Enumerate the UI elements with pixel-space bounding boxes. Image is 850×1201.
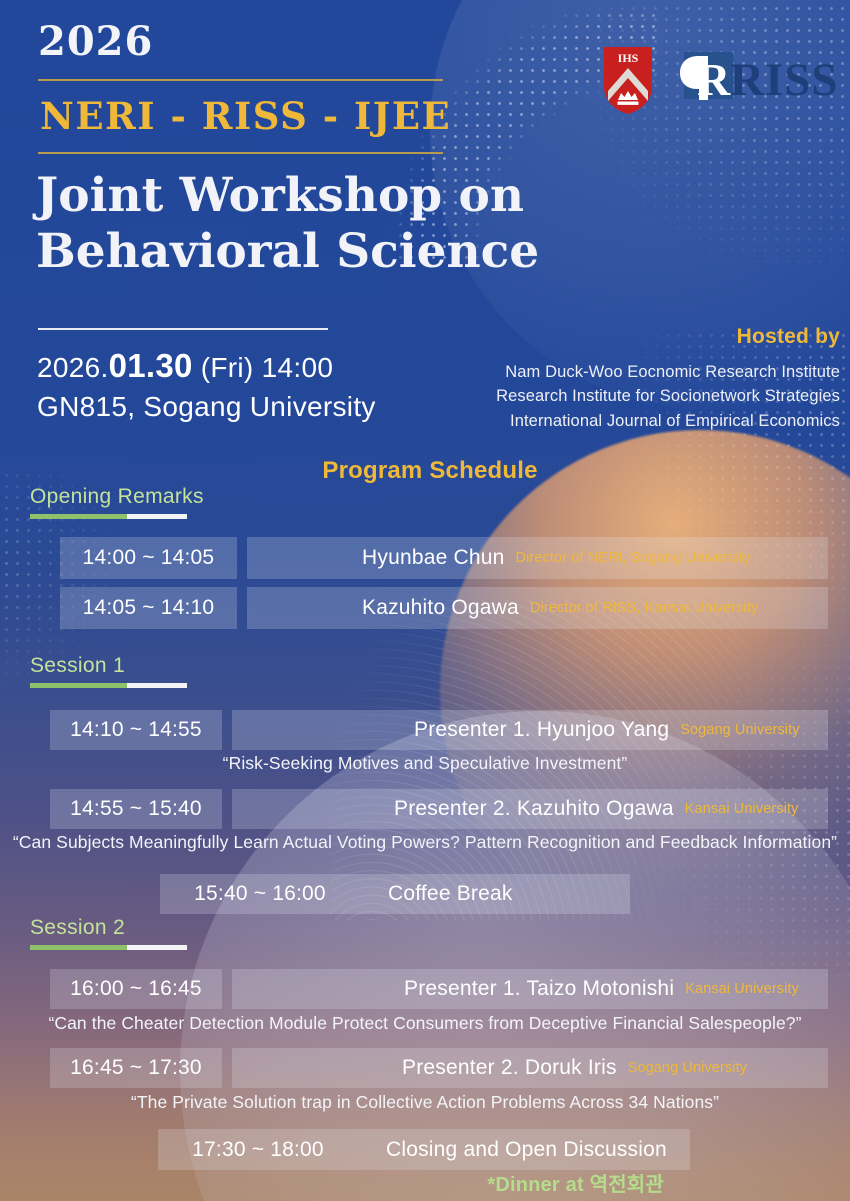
poster-root: 2026 NERI - RISS - IJEE Joint Workshop o…: [0, 0, 850, 1201]
row-time: 16:00 ~ 16:45: [50, 969, 222, 1009]
row-label: Closing and Open Discussion: [386, 1138, 667, 1162]
row-paper-title: “Can the Cheater Detection Module Protec…: [0, 1013, 850, 1034]
row-time: 14:00 ~ 14:05: [60, 537, 237, 579]
page-title-line2: Behavioral Science: [36, 224, 539, 280]
row-affiliation: Kansai University: [685, 801, 799, 817]
row-body: Presenter 2. Doruk Iris Sogang Universit…: [232, 1048, 828, 1088]
row-speaker-name: Presenter 2. Doruk Iris: [402, 1056, 617, 1080]
divider-date: [38, 328, 328, 330]
section-opening-remarks: Opening Remarks: [30, 486, 204, 519]
row-time: 17:30 ~ 18:00: [158, 1138, 358, 1162]
riss-r-glyph: R: [697, 54, 731, 105]
section-heading: Opening Remarks: [30, 486, 204, 508]
row-paper-title: “Can Subjects Meaningfully Learn Actual …: [0, 832, 850, 853]
halftone-dots-top-right: [540, 0, 850, 270]
section-underline: [30, 514, 187, 519]
row-affiliation: Sogang University: [628, 1060, 747, 1076]
host-institute: Nam Duck-Woo Eocnomic Research Institute: [496, 360, 840, 384]
table-row: 16:45 ~ 17:30 Presenter 2. Doruk Iris So…: [50, 1048, 828, 1088]
coffee-break-row: 15:40 ~ 16:00 Coffee Break: [160, 874, 630, 914]
section-heading: Session 1: [30, 655, 187, 677]
hosted-by-label: Hosted by: [737, 325, 840, 349]
row-time: 14:05 ~ 14:10: [60, 587, 237, 629]
row-affiliation: Sogang University: [680, 722, 799, 738]
row-paper-title: “The Private Solution trap in Collective…: [0, 1092, 850, 1113]
row-speaker-name: Presenter 2. Kazuhito Ogawa: [394, 797, 674, 821]
section-heading: Session 2: [30, 917, 187, 939]
table-row: 14:55 ~ 15:40 Presenter 2. Kazuhito Ogaw…: [50, 789, 828, 829]
event-venue: GN815, Sogang University: [37, 391, 376, 423]
row-paper-title: “Risk-Seeking Motives and Speculative In…: [0, 753, 850, 774]
section-session-2: Session 2: [30, 917, 187, 950]
row-affiliation: Kansai University: [685, 981, 799, 997]
row-speaker-name: Kazuhito Ogawa: [362, 596, 519, 620]
table-row: 16:00 ~ 16:45 Presenter 1. Taizo Motonis…: [50, 969, 828, 1009]
row-speaker-name: Presenter 1. Hyunjoo Yang: [414, 718, 669, 742]
row-label: Coffee Break: [388, 882, 513, 906]
row-speaker-name: Presenter 1. Taizo Motonishi: [404, 977, 674, 1001]
riss-wordmark: RISS: [730, 54, 836, 106]
host-institute: International Journal of Empirical Econo…: [496, 409, 840, 433]
riss-logo-icon: R RISS: [673, 48, 836, 110]
program-schedule-title: Program Schedule: [0, 457, 850, 485]
row-speaker-name: Hyunbae Chun: [362, 546, 505, 570]
decorative-sphere-bottom: [180, 711, 850, 1201]
table-row: 14:00 ~ 14:05 Hyunbae Chun Director of N…: [60, 537, 828, 579]
closing-row: 17:30 ~ 18:00 Closing and Open Discussio…: [158, 1129, 690, 1170]
row-time: 16:45 ~ 17:30: [50, 1048, 222, 1088]
decorative-sphere-orange: [440, 430, 850, 950]
page-title-line1: Joint Workshop on: [36, 168, 539, 224]
event-date-suffix: (Fri) 14:00: [193, 352, 334, 383]
page-year: 2026: [38, 22, 153, 62]
row-body: Presenter 1. Hyunjoo Yang Sogang Univers…: [232, 710, 828, 750]
table-row: 14:10 ~ 14:55 Presenter 1. Hyunjoo Yang …: [50, 710, 828, 750]
row-body: Presenter 1. Taizo Motonishi Kansai Univ…: [232, 969, 828, 1009]
section-underline: [30, 945, 187, 950]
row-time: 14:55 ~ 15:40: [50, 789, 222, 829]
row-time: 14:10 ~ 14:55: [50, 710, 222, 750]
row-affiliation: Director of RISS, Kansai University: [530, 600, 758, 616]
page-title: Joint Workshop on Behavioral Science: [36, 168, 539, 280]
row-time: 15:40 ~ 16:00: [160, 882, 360, 906]
row-affiliation: Director of NERI, Sogang University: [516, 550, 751, 566]
row-body: Hyunbae Chun Director of NERI, Sogang Un…: [247, 537, 828, 579]
host-institute-list: Nam Duck-Woo Eocnomic Research Institute…: [496, 360, 840, 433]
section-underline: [30, 683, 187, 688]
host-institute: Research Institute for Socionetwork Stra…: [496, 384, 840, 408]
organizer-acronyms: NERI - RISS - IJEE: [40, 96, 451, 137]
divider-top: [38, 79, 443, 81]
event-date-main: 01.30: [109, 347, 193, 384]
sogang-shield-logo-icon: IHS: [601, 44, 655, 116]
table-row: 14:05 ~ 14:10 Kazuhito Ogawa Director of…: [60, 587, 828, 629]
row-body: Kazuhito Ogawa Director of RISS, Kansai …: [247, 587, 828, 629]
event-datetime: 2026.01.30 (Fri) 14:00: [37, 347, 333, 385]
shield-ihs-text: IHS: [618, 51, 639, 65]
event-date-prefix: 2026.: [37, 352, 109, 383]
divider-bottom: [38, 152, 443, 154]
dinner-note: *Dinner at 역전회관: [487, 1168, 664, 1197]
section-session-1: Session 1: [30, 655, 187, 688]
row-body: Presenter 2. Kazuhito Ogawa Kansai Unive…: [232, 789, 828, 829]
